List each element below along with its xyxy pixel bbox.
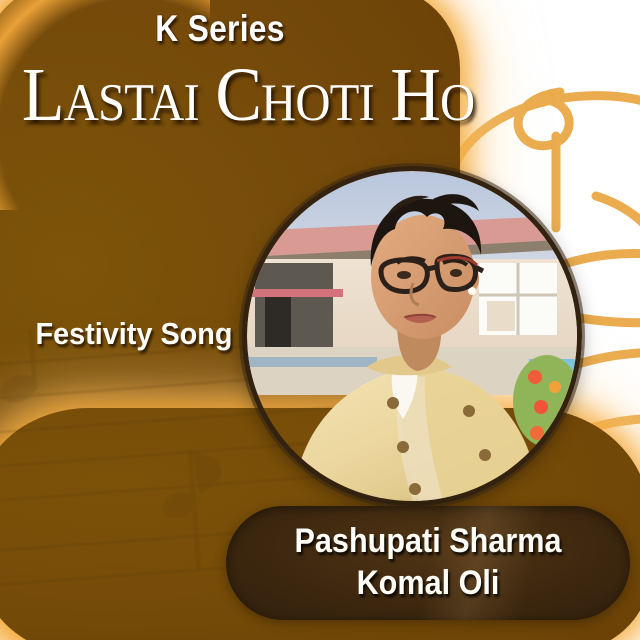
album-cover: K Series Lastai Choti Ho Festivity Song [0, 0, 640, 640]
artist-name-secondary: Komal Oli [246, 564, 610, 603]
artist-photo [242, 166, 582, 506]
artist-name-primary: Pashupati Sharma [246, 522, 610, 561]
label-name: K Series [31, 8, 409, 50]
artist-name-banner: Pashupati Sharma Komal Oli [226, 506, 630, 620]
genre-tag: Festivity Song [15, 316, 253, 352]
artist-portrait-image [247, 171, 577, 501]
album-title: Lastai Choti Ho [22, 58, 434, 132]
